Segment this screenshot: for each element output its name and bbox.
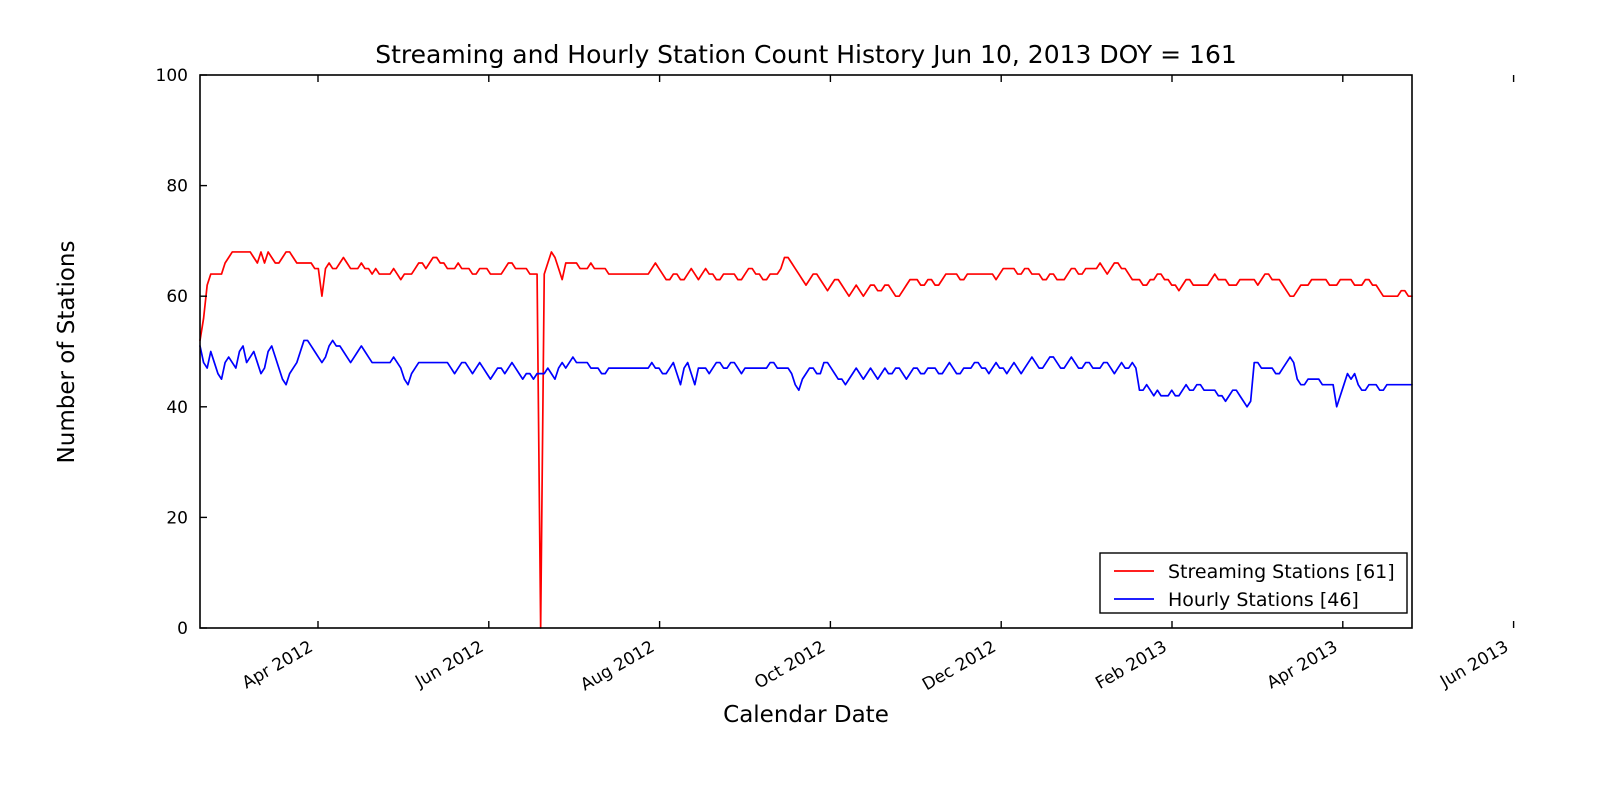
y-axis-label: Number of Stations <box>54 241 80 464</box>
plot-background <box>200 75 1412 628</box>
y-tick-label: 60 <box>166 287 188 307</box>
legend-label-streaming: Streaming Stations [61] <box>1168 561 1395 583</box>
y-tick-label: 40 <box>166 398 188 418</box>
x-tick-label: Jun 2013 <box>1436 637 1512 692</box>
chart-title: Streaming and Hourly Station Count Histo… <box>375 40 1237 69</box>
x-tick-label: Oct 2012 <box>751 637 829 693</box>
x-tick-label: Apr 2013 <box>1264 637 1342 693</box>
y-tick-label: 100 <box>156 66 188 86</box>
station-count-line-chart: 020406080100 Apr 2012Jun 2012Aug 2012Oct… <box>0 0 1600 800</box>
x-tick-label: Jun 2012 <box>411 637 487 692</box>
y-tick-label: 80 <box>166 177 188 197</box>
chart-page: 020406080100 Apr 2012Jun 2012Aug 2012Oct… <box>0 0 1600 800</box>
legend-label-hourly: Hourly Stations [46] <box>1168 589 1359 611</box>
chart-legend[interactable]: Streaming Stations [61] Hourly Stations … <box>1100 553 1407 613</box>
x-axis-label: Calendar Date <box>723 702 889 728</box>
x-tick-label: Apr 2012 <box>239 637 317 693</box>
x-tick-label: Dec 2012 <box>919 637 1000 695</box>
y-tick-label: 0 <box>177 619 188 639</box>
x-tick-label: Feb 2013 <box>1092 637 1170 694</box>
x-tick-label: Aug 2012 <box>577 637 658 695</box>
y-tick-label: 20 <box>166 508 188 528</box>
